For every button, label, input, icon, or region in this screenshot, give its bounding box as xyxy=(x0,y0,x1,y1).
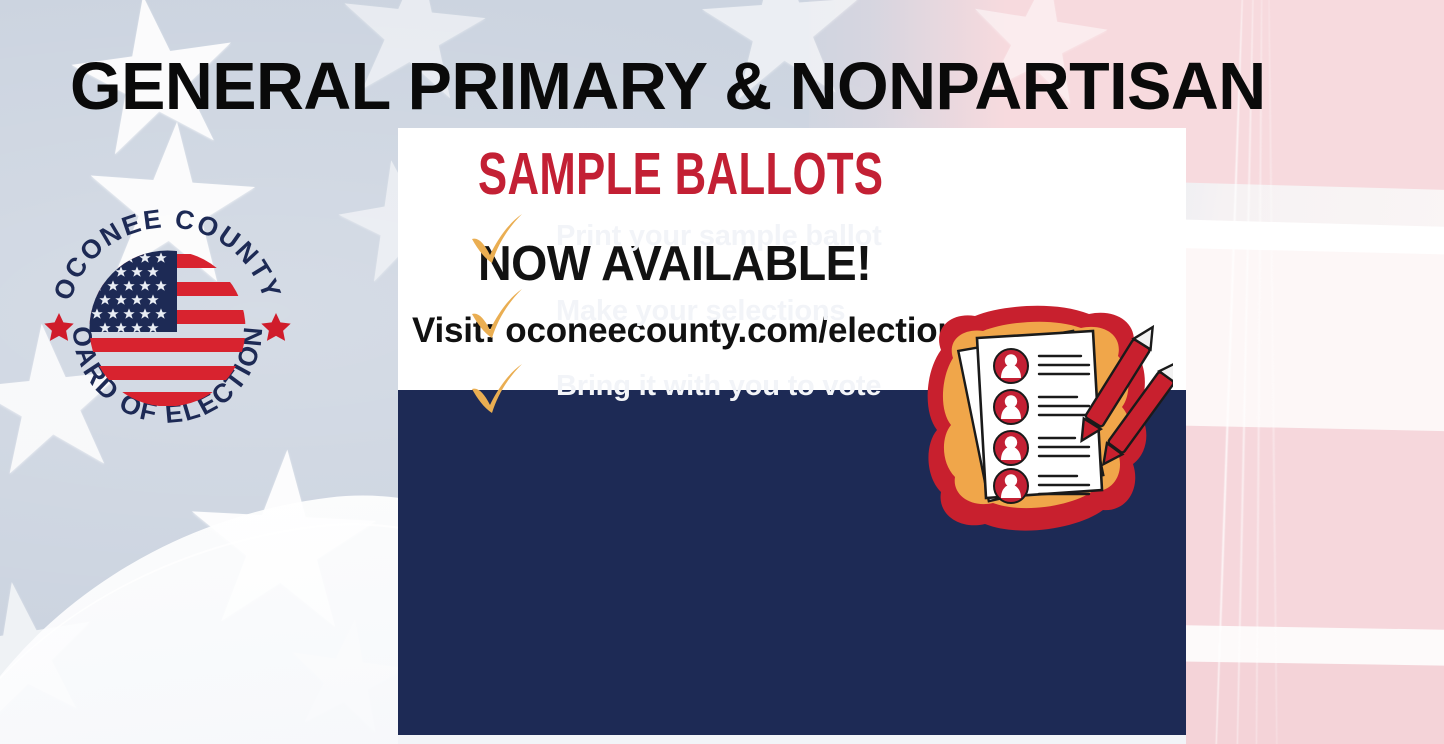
list-item-label: Make your selections xyxy=(556,295,845,328)
oconee-county-board-of-elections-seal: OCONEE COUNTY BOARD OF ELECTIONS xyxy=(35,196,300,461)
poster-canvas: ★ ★ ★ ★ ★ ★ ★ ★ ★ ★ ★ GENERAL PRIMARY & … xyxy=(0,0,1444,744)
list-item-label: Print your sample ballot xyxy=(556,220,882,253)
page-title: GENERAL PRIMARY & NONPARTISAN xyxy=(70,48,1397,125)
check-icon xyxy=(468,360,526,418)
check-icon xyxy=(468,210,526,268)
card-bottom-band xyxy=(398,735,1186,744)
list-item: Print your sample ballot xyxy=(468,208,1028,283)
list-item-label: Bring it with you to vote xyxy=(556,370,881,403)
check-icon xyxy=(468,285,526,343)
ballot-papers-with-pencils-illustration xyxy=(903,298,1173,558)
sample-ballot-announcement-card: SAMPLE BALLOTS NOW AVAILABLE! Visit: oco… xyxy=(398,128,1186,735)
card-title: SAMPLE BALLOTS xyxy=(478,140,883,208)
